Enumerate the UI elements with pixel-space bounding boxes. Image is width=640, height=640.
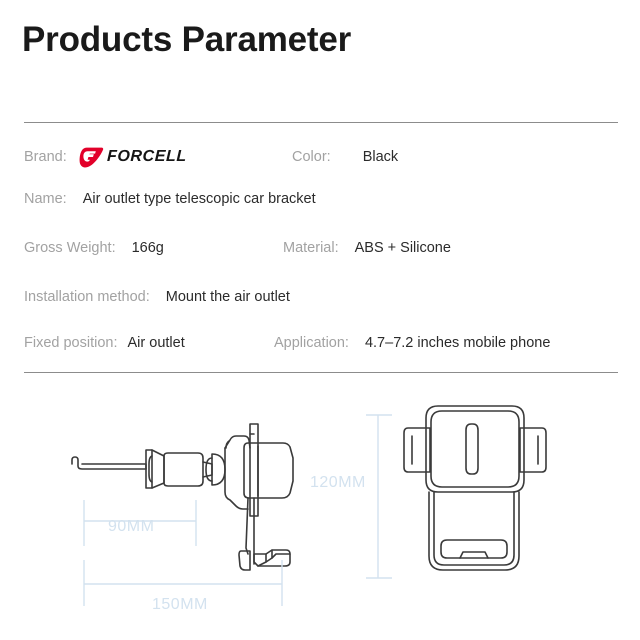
color-label: Color: (292, 149, 331, 165)
diagram-svg (0, 388, 640, 640)
gross-weight-label: Gross Weight: (24, 240, 116, 256)
spec-row-weight-material: Gross Weight: 166g Material: ABS + Silic… (24, 235, 624, 261)
forcell-logo-text: FORCELL (106, 148, 186, 166)
divider-top (24, 122, 618, 123)
forcell-logo: FORCELL (79, 146, 187, 168)
spec-field-gross-weight: Gross Weight: 166g (24, 240, 283, 256)
fixed-position-value: Air outlet (128, 335, 185, 351)
spec-row-name: Name: Air outlet type telescopic car bra… (24, 186, 624, 212)
installation-method-value: Mount the air outlet (166, 289, 290, 305)
application-value: 4.7–7.2 inches mobile phone (365, 335, 550, 351)
spec-row-installation-method: Installation method: Mount the air outle… (24, 284, 624, 310)
installation-method-label: Installation method: (24, 289, 150, 305)
color-value: Black (363, 149, 398, 165)
dimension-label-120mm: 120MM (310, 474, 366, 492)
forcell-logo-mark-icon (79, 147, 104, 168)
gross-weight-value: 166g (132, 240, 164, 256)
front-view-drawing (404, 406, 546, 570)
divider-bottom (24, 372, 618, 373)
application-label: Application: (274, 335, 349, 351)
spec-field-color: Color: Black (292, 149, 398, 165)
fixed-position-label: Fixed position: (24, 335, 118, 351)
name-value: Air outlet type telescopic car bracket (83, 191, 316, 207)
dimension-label-150mm: 150MM (152, 596, 208, 614)
spec-field-fixed-position: Fixed position: Air outlet (24, 335, 274, 351)
side-view-drawing (72, 424, 293, 570)
spec-field-material: Material: ABS + Silicone (283, 240, 451, 256)
page-title: Products Parameter (22, 18, 351, 62)
name-label: Name: (24, 191, 67, 207)
spec-field-brand: Brand: FORCELL (24, 146, 292, 168)
product-diagrams: 90MM 150MM 120MM (0, 388, 640, 640)
spec-row-brand-color: Brand: FORCELL Color: Black (24, 144, 624, 170)
brand-label: Brand: (24, 149, 67, 165)
front-view-dimension-line (366, 415, 392, 578)
spec-row-fixed-position-application: Fixed position: Air outlet Application: … (24, 330, 624, 356)
spec-field-application: Application: 4.7–7.2 inches mobile phone (274, 335, 550, 351)
material-value: ABS + Silicone (355, 240, 451, 256)
product-parameter-page: Products Parameter Brand: FORCELL Color:… (0, 0, 640, 640)
material-label: Material: (283, 240, 339, 256)
dimension-label-90mm: 90MM (108, 518, 154, 536)
